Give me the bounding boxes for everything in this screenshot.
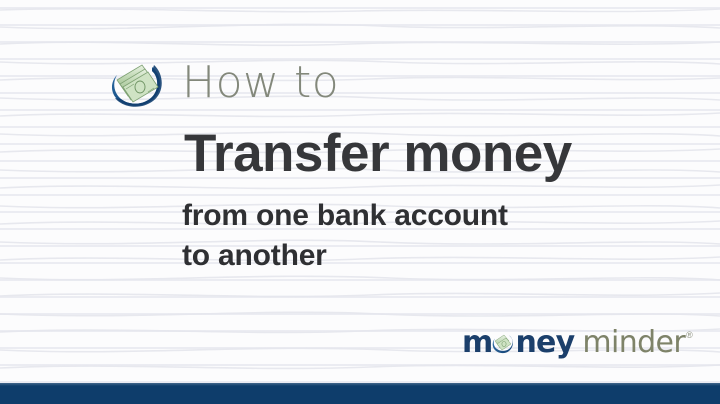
brand-word-minder: minder bbox=[582, 328, 685, 358]
title-slide: How to Transfer money from one bank acco… bbox=[0, 0, 720, 404]
registered-trademark-mark: ® bbox=[686, 330, 693, 340]
brand-money-ney: ney bbox=[515, 328, 574, 358]
subtitle: from one bank account to another bbox=[182, 196, 508, 275]
bottom-bar-sheen bbox=[0, 383, 720, 386]
brand-money-m: m bbox=[462, 328, 492, 358]
page-title: Transfer money bbox=[184, 127, 572, 181]
money-stack-swoosh-icon bbox=[108, 56, 166, 110]
bottom-accent-bar bbox=[0, 383, 720, 404]
eyebrow-text: How to bbox=[182, 61, 339, 105]
subtitle-line-1: from one bank account bbox=[182, 196, 508, 236]
subtitle-line-2: to another bbox=[182, 236, 508, 276]
money-stack-icon bbox=[492, 331, 515, 354]
brand-word-money: m bbox=[462, 328, 574, 358]
howto-header-row: How to bbox=[108, 56, 339, 110]
moneyminder-logo: m bbox=[462, 328, 692, 358]
